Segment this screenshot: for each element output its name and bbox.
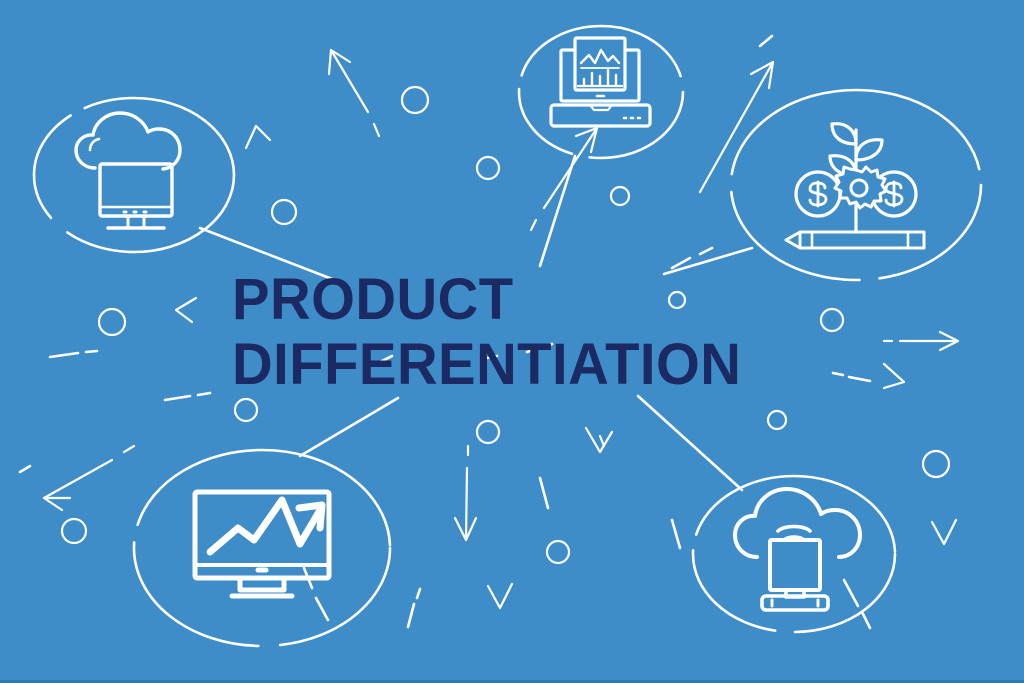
- monitor-growth-arrow-icon: [195, 492, 329, 596]
- device-base-details: [772, 600, 818, 606]
- connector-laptop-analytics: [540, 156, 575, 266]
- plant-coins-gear-icon: [786, 124, 924, 248]
- node-growth-investment[interactable]: [731, 90, 981, 280]
- node-laptop-analytics[interactable]: [519, 26, 683, 158]
- connector-cloud-desktop: [200, 228, 345, 284]
- laptop-analytics-icon: [551, 38, 650, 126]
- leaf-right: [856, 140, 882, 160]
- node-ellipse: [134, 450, 390, 646]
- cloud-inner-curve: [90, 139, 99, 150]
- pencil-tip: [786, 232, 800, 248]
- cloud-desktop-icon: [76, 113, 180, 228]
- node-growth-chart-monitor[interactable]: [134, 450, 390, 646]
- node-cloud-desktop[interactable]: [34, 98, 234, 252]
- laptop-base: [551, 105, 650, 126]
- device-screen: [770, 540, 820, 590]
- connector-growth-investment: [664, 248, 752, 274]
- pencil-body: [800, 232, 924, 248]
- connector-cloud-wifi: [638, 396, 742, 490]
- node-cloud-wifi-device[interactable]: [693, 476, 895, 632]
- connector-lines: [200, 156, 752, 490]
- gear-center-hole: [851, 180, 867, 196]
- cloud-shape: [76, 113, 180, 169]
- icon-layer: [0, 0, 1024, 683]
- laptop-hinge: [590, 105, 612, 110]
- poster-canvas: PRODUCT DIFFERENTIATION: [0, 0, 1024, 683]
- connector-growth-chart: [300, 398, 398, 456]
- cloud-wifi-device-icon: [735, 489, 860, 610]
- leaf-upper-left: [832, 124, 856, 144]
